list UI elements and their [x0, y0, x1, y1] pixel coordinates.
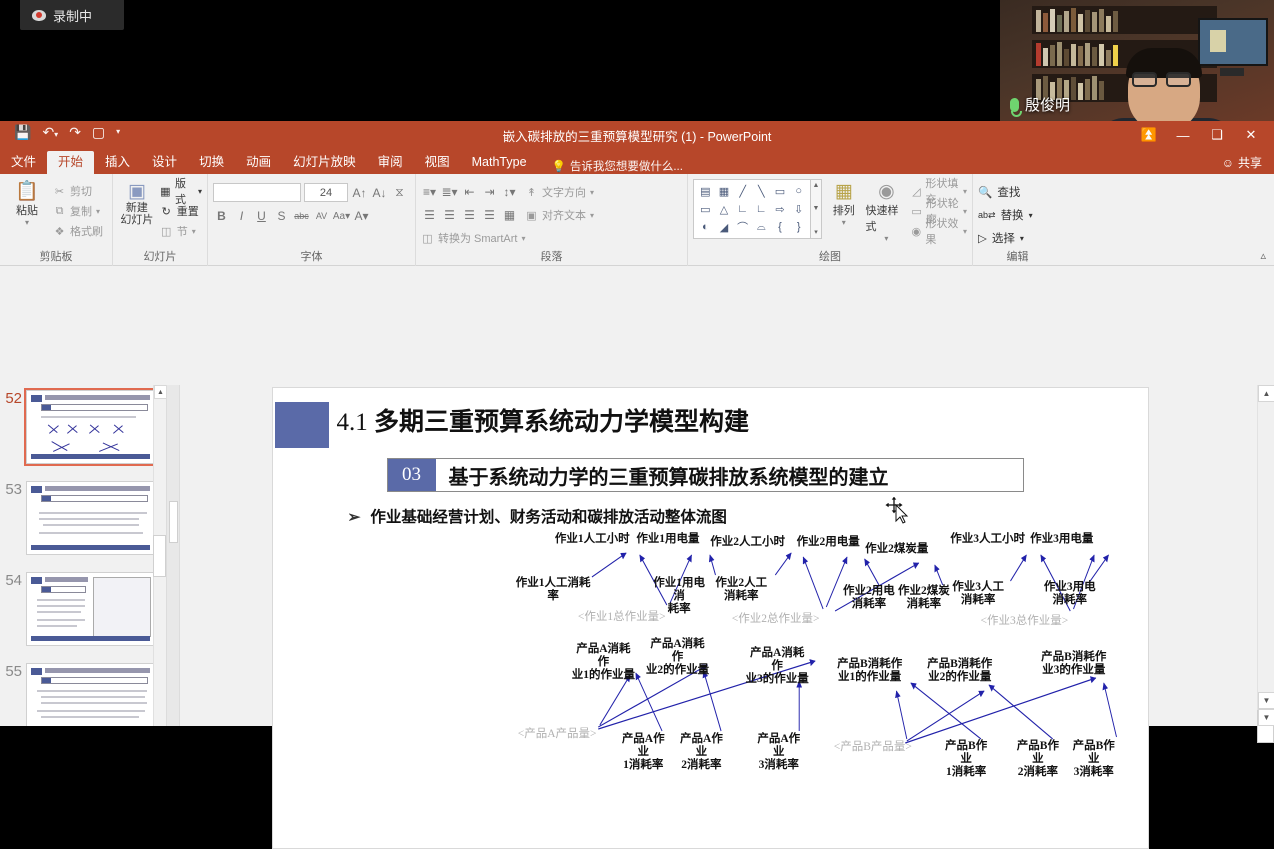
convert-to-smartart-button[interactable]: ◫ 转换为 SmartArt ▾: [421, 229, 525, 247]
title-accent-square: [275, 402, 329, 448]
quick-styles-button[interactable]: ◉ 快速样式 ▾: [865, 179, 907, 243]
quick-styles-icon: ◉: [878, 181, 895, 202]
section-header-box[interactable]: 03 基于系统动力学的三重预算碳排放系统模型的建立: [387, 458, 1024, 492]
paste-button[interactable]: 📋 粘贴 ▾: [5, 179, 49, 227]
collapse-ribbon-icon[interactable]: ▵: [1260, 249, 1266, 262]
strikethrough-button[interactable]: abc: [293, 207, 310, 225]
font-color-icon[interactable]: A▾: [353, 207, 370, 225]
restore-button[interactable]: ❑: [1200, 124, 1234, 146]
group-label-slides: 幻灯片: [113, 248, 207, 264]
scroll-down-icon[interactable]: ▼: [813, 205, 820, 212]
section-number: 03: [388, 459, 436, 491]
copy-icon: ⧉: [53, 205, 66, 218]
replace-label: 替换: [1001, 207, 1024, 223]
list-item[interactable]: 52: [0, 385, 166, 476]
diagram-node-r1[interactable]: 产品A作业 1消耗率: [617, 733, 670, 772]
move-cursor: [885, 496, 911, 524]
title-number: 4.1: [337, 409, 368, 436]
slide-number: 54: [2, 572, 26, 589]
new-slide-label: 新建 幻灯片: [120, 202, 153, 226]
shape-outline-icon: ▭: [911, 205, 921, 218]
text-direction-button[interactable]: ↟ 文字方向 ▾: [525, 183, 594, 201]
group-drawing: ▤ ▦ ╱ ╲ ▭ ○ ▭ △ ∟ ∟ ⇨ ⇩ ◐ ◢ ⌒: [687, 174, 972, 266]
text-direction-icon: ↟: [525, 186, 538, 199]
group-paragraph: ≡▾ ≣▾ ⇤ ⇥ ↕▾ ↟ 文字方向 ▾ ☰ ☰: [415, 174, 687, 266]
group-label-clipboard: 剪贴板: [0, 248, 112, 264]
increase-font-size-icon[interactable]: A↑: [351, 184, 368, 202]
smartart-icon: ◫: [421, 232, 434, 245]
slide-thumbnail-55[interactable]: [26, 663, 155, 726]
replace-button[interactable]: ab⇄ 替换 ▾: [978, 205, 1033, 225]
title-bar: 💾 ↶▾ ↷ ▢ ▾ 嵌入碳排放的三重预算模型研究 (1) - PowerPoi…: [0, 121, 1274, 149]
copy-label: 复制: [70, 203, 92, 219]
shapes-gallery[interactable]: ▤ ▦ ╱ ╲ ▭ ○ ▭ △ ∟ ∟ ⇨ ⇩ ◐ ◢ ⌒: [693, 179, 811, 239]
group-font: 24 A↑ A↓ ⧖ B I U S abc AV Aa▾ A▾: [207, 174, 415, 266]
pane-splitter[interactable]: [166, 385, 180, 726]
person-icon: ☺: [1222, 156, 1234, 170]
slide-thumbnail-52[interactable]: [26, 390, 155, 464]
shape-curve-icon[interactable]: ⌓: [752, 218, 771, 236]
font-name-input[interactable]: [213, 183, 301, 202]
share-button[interactable]: ☺ 共享: [1222, 154, 1262, 171]
list-item[interactable]: 55: [0, 658, 166, 726]
thumbnail-scroll-up-icon[interactable]: ▲: [154, 385, 166, 399]
bold-button[interactable]: B: [213, 207, 230, 225]
shape-textbox-icon[interactable]: ▤: [696, 182, 715, 200]
align-text-icon: ▣: [525, 209, 538, 222]
format-painter-button[interactable]: ❖ 格式刷: [53, 222, 103, 240]
shape-left-brace-icon[interactable]: {: [771, 218, 790, 236]
arrange-label: 排列: [833, 202, 855, 218]
shape-down-arrow-icon[interactable]: ⇩: [789, 200, 808, 218]
diagram-node-r2[interactable]: 产品A作业 2消耗率: [675, 733, 728, 772]
align-left-icon[interactable]: ☰: [421, 206, 438, 224]
lightbulb-icon: 💡: [552, 159, 566, 173]
screen-share-top-band: 录制中: [0, 0, 1274, 122]
window-title: 嵌入碳排放的三重预算模型研究 (1) - PowerPoint: [0, 126, 1274, 145]
diagram-node-n12[interactable]: 作业2煤炭 消耗率: [898, 585, 951, 611]
tab-home[interactable]: 开始: [47, 151, 94, 174]
tab-mathtype[interactable]: MathType: [461, 151, 538, 174]
participant-name: 殷俊明: [1025, 94, 1070, 115]
diagram-node-n8[interactable]: 作业1人工消耗率: [511, 577, 596, 603]
diagram-node-ga[interactable]: <产品A产品量>: [515, 728, 599, 741]
bullets-icon[interactable]: ≡▾: [421, 183, 438, 201]
cut-button[interactable]: ✂ 剪切: [53, 182, 103, 200]
text-shadow-button[interactable]: S: [273, 207, 290, 225]
slide-number: 55: [2, 663, 26, 680]
workspace: 52: [0, 385, 1274, 726]
decrease-font-size-icon[interactable]: A↓: [371, 184, 388, 202]
recording-label: 录制中: [53, 6, 92, 25]
shape-triangle-icon[interactable]: △: [715, 200, 734, 218]
monitor-stand: [1220, 68, 1244, 76]
layout-button[interactable]: ▦ 版式 ▾: [160, 182, 202, 200]
clear-formatting-icon[interactable]: ⧖: [391, 184, 408, 202]
diagram-node-p4[interactable]: 产品B消耗作 业1的作业量: [837, 658, 902, 684]
diagram-node-p2[interactable]: 产品A消耗作 业2的作业量: [645, 638, 710, 677]
slide-number: 52: [2, 390, 26, 407]
diagram-node-n11[interactable]: 作业2用电 消耗率: [843, 585, 896, 611]
thumbnail-scrollbar-thumb[interactable]: [153, 535, 166, 577]
shape-oval-icon[interactable]: ○: [789, 182, 808, 200]
diagram-node-p5[interactable]: 产品B消耗作 业2的作业量: [927, 658, 992, 684]
tab-file[interactable]: 文件: [0, 151, 47, 174]
webcam-video-tile[interactable]: 殷俊明: [1000, 0, 1274, 121]
diagram-node-r3[interactable]: 产品A作业 3消耗率: [752, 733, 805, 772]
reset-label: 重置: [177, 203, 199, 219]
diagram-node-n2[interactable]: 作业1用电量: [633, 533, 703, 546]
title-text: 多期三重预算系统动力学模型构建: [374, 409, 749, 436]
powerpoint-window: 💾 ↶▾ ↷ ▢ ▾ 嵌入碳排放的三重预算模型研究 (1) - PowerPoi…: [0, 121, 1274, 726]
change-case-icon[interactable]: Aa▾: [333, 207, 350, 225]
chevron-down-icon[interactable]: ▾: [25, 218, 29, 227]
bullet-text: 作业基础经营计划、财务活动和碳排放活动整体流图: [370, 509, 727, 526]
slide-area-scrollbar[interactable]: ▲ ▼ ▼: [1257, 385, 1274, 726]
diagram-node-p3[interactable]: 产品A消耗作 业3的作业量: [744, 647, 809, 686]
reset-icon: ↻: [160, 205, 173, 218]
shape-effects-button[interactable]: ◉ 形状效果 ▾: [911, 222, 967, 240]
reset-button[interactable]: ↻ 重置: [160, 202, 202, 220]
format-painter-label: 格式刷: [70, 223, 103, 239]
justify-icon[interactable]: ☰: [481, 206, 498, 224]
clipboard-icon: 📋: [15, 181, 39, 202]
microphone-icon: [1010, 98, 1019, 112]
tab-slideshow[interactable]: 幻灯片放映: [282, 151, 367, 174]
smartart-label: 转换为 SmartArt: [438, 230, 517, 246]
diagram-node-gb[interactable]: <产品B产品量>: [831, 741, 915, 754]
new-slide-icon: ▣: [128, 181, 146, 202]
shape-rounded-rect-icon[interactable]: ▭: [696, 200, 715, 218]
books: [1036, 42, 1118, 66]
shape-elbow-arrow-icon[interactable]: ∟: [752, 200, 771, 218]
window-controls: ⏫ — ❑ ✕: [1132, 124, 1268, 146]
character-spacing-icon[interactable]: AV: [313, 207, 330, 225]
shape-right-brace-icon[interactable]: }: [789, 218, 808, 236]
scissors-icon: ✂: [53, 185, 66, 198]
paste-label: 粘贴: [16, 202, 38, 218]
find-button[interactable]: 🔍 查找: [978, 182, 1020, 202]
numbering-icon[interactable]: ≣▾: [441, 183, 458, 201]
minimize-button[interactable]: —: [1166, 124, 1200, 146]
slide-thumbnail-pane[interactable]: 52: [0, 385, 166, 726]
shapes-gallery-scroll[interactable]: ▲ ▼ ▾: [811, 179, 822, 239]
shape-vertical-textbox-icon[interactable]: ▦: [715, 182, 734, 200]
increase-indent-icon[interactable]: ⇥: [481, 183, 498, 201]
diagram-node-r5[interactable]: 产品B作业 2消耗率: [1012, 740, 1065, 779]
cut-label: 剪切: [70, 183, 92, 199]
page-title[interactable]: 4.1 多期三重预算系统动力学模型构建: [337, 402, 750, 438]
tab-design[interactable]: 设计: [141, 151, 188, 174]
group-label-paragraph: 段落: [416, 248, 687, 264]
line-spacing-icon[interactable]: ↕▾: [501, 183, 518, 201]
copy-button[interactable]: ⧉ 复制 ▾: [53, 202, 103, 220]
group-label-drawing: 绘图: [688, 248, 972, 264]
shape-elbow-connector-icon[interactable]: ∟: [733, 200, 752, 218]
ribbon-tab-bar: 文件 开始 插入 设计 切换 动画 幻灯片放映 审阅 视图 MathType 💡…: [0, 149, 1274, 174]
format-painter-icon: ❖: [53, 225, 66, 238]
diagram-node-n5[interactable]: 作业2煤炭量: [862, 543, 932, 556]
align-right-icon[interactable]: ☰: [461, 206, 478, 224]
font-size-input[interactable]: 24: [304, 183, 348, 202]
align-text-button[interactable]: ▣ 对齐文本 ▾: [525, 206, 594, 224]
align-text-label: 对齐文本: [542, 207, 586, 223]
tab-animations[interactable]: 动画: [235, 151, 282, 174]
section-icon: ◫: [160, 225, 173, 238]
shape-pie-icon[interactable]: ◐: [696, 218, 715, 236]
shape-line-icon[interactable]: ╱: [733, 182, 752, 200]
eyeglasses-right: [1166, 72, 1191, 87]
shapes-gallery-wrap: ▤ ▦ ╱ ╲ ▭ ○ ▭ △ ∟ ∟ ⇨ ⇩ ◐ ◢ ⌒: [693, 179, 822, 239]
causal-loop-diagram[interactable]: 作业1人工小时作业1用电量作业2人工小时作业2用电量作业2煤炭量作业3人工小时作…: [273, 533, 1150, 793]
list-item[interactable]: 53: [0, 476, 166, 567]
align-center-icon[interactable]: ☰: [441, 206, 458, 224]
diagram-node-n14[interactable]: 作业3用电 消耗率: [1043, 581, 1096, 607]
diagram-node-n10[interactable]: 作业2人工 消耗率: [715, 577, 768, 603]
slide-canvas-area: 4.1 多期三重预算系统动力学模型构建 03 基于系统动力学的三重预算碳排放系统…: [180, 385, 1240, 726]
arrange-button[interactable]: ▦ 排列 ▾: [826, 179, 861, 227]
tab-insert[interactable]: 插入: [94, 151, 141, 174]
eyeglasses-left: [1132, 72, 1157, 87]
diagram-node-g1[interactable]: <作业1总作业量>: [575, 611, 669, 624]
tell-me-label: 告诉我您想要做什么...: [570, 158, 683, 174]
columns-icon[interactable]: ▦: [501, 206, 518, 224]
shape-arc-icon[interactable]: ⌒: [733, 218, 752, 236]
shapes-more-icon[interactable]: ▾: [814, 228, 818, 236]
current-slide[interactable]: 4.1 多期三重预算系统动力学模型构建 03 基于系统动力学的三重预算碳排放系统…: [272, 387, 1149, 849]
tab-review[interactable]: 审阅: [367, 151, 414, 174]
ribbon-display-options-button[interactable]: ⏫: [1132, 124, 1166, 146]
shape-effects-icon: ◉: [911, 225, 921, 238]
group-clipboard: 📋 粘贴 ▾ ✂ 剪切 ⧉ 复制 ▾ ❖ 格: [0, 174, 112, 266]
group-slides: ▣ 新建 幻灯片 ▦ 版式 ▾ ↻ 重置 ◫ 节: [112, 174, 207, 266]
new-slide-button[interactable]: ▣ 新建 幻灯片: [118, 179, 156, 226]
cloud-record-icon: [32, 10, 46, 21]
tab-transitions[interactable]: 切换: [188, 151, 235, 174]
group-editing: 🔍 查找 ab⇄ 替换 ▾ ▷ 选择 ▾ 编辑: [972, 174, 1062, 266]
shape-rectangle-icon[interactable]: ▭: [771, 182, 790, 200]
diagram-node-g3[interactable]: <作业3总作业量>: [977, 615, 1071, 628]
share-label: 共享: [1238, 154, 1262, 171]
thumbnail-pane-scrollbar[interactable]: ▲: [153, 385, 166, 726]
recording-indicator[interactable]: 录制中: [20, 0, 124, 30]
italic-button[interactable]: I: [233, 207, 250, 225]
participant-name-badge: 殷俊明: [1010, 94, 1070, 115]
bullet-marker-icon: ➢: [348, 509, 361, 526]
find-label: 查找: [997, 184, 1020, 200]
diagram-node-n7[interactable]: 作业3用电量: [1027, 533, 1097, 546]
diagram-node-p1[interactable]: 产品A消耗作 业1的作业量: [571, 643, 636, 682]
scroll-up-icon[interactable]: ▲: [813, 182, 820, 189]
section-title: 基于系统动力学的三重预算碳排放系统模型的建立: [436, 461, 889, 490]
scroll-up-button[interactable]: ▲: [1258, 385, 1274, 402]
select-icon: ▷: [978, 231, 987, 245]
diagram-node-g2[interactable]: <作业2总作业量>: [729, 613, 823, 626]
shape-fill-icon: ◿: [911, 185, 921, 198]
diagram-node-n13[interactable]: 作业3人工 消耗率: [952, 581, 1005, 607]
group-label-font: 字体: [208, 248, 415, 264]
tab-view[interactable]: 视图: [414, 151, 461, 174]
decrease-indent-icon[interactable]: ⇤: [461, 183, 478, 201]
arrange-icon: ▦: [835, 181, 853, 202]
scroll-down-button[interactable]: ▼: [1258, 692, 1274, 709]
tell-me-box[interactable]: 💡 告诉我您想要做什么...: [552, 158, 683, 174]
search-icon: 🔍: [978, 185, 992, 199]
next-slide-button[interactable]: ▼: [1258, 709, 1274, 726]
section-label: 节: [177, 223, 188, 239]
select-label: 选择: [992, 230, 1015, 246]
shape-effects-label: 形状效果: [925, 215, 959, 247]
layout-icon: ▦: [160, 185, 171, 198]
section-button[interactable]: ◫ 节 ▾: [160, 222, 202, 240]
diagram-node-n6[interactable]: 作业3人工小时: [948, 533, 1028, 546]
diagram-node-n1[interactable]: 作业1人工小时: [552, 533, 632, 546]
list-item[interactable]: 54: [0, 567, 166, 658]
select-button[interactable]: ▷ 选择 ▾: [978, 228, 1024, 248]
shape-freeform-icon[interactable]: ◢: [715, 218, 734, 236]
bullet-line[interactable]: ➢ 作业基础经营计划、财务活动和碳排放活动整体流图: [348, 505, 727, 527]
diagram-node-r4[interactable]: 产品B作业 1消耗率: [940, 740, 993, 779]
close-button[interactable]: ✕: [1234, 124, 1268, 146]
slide-thumbnail-54[interactable]: [26, 572, 155, 646]
slide-number: 53: [2, 481, 26, 498]
diagram-node-n4[interactable]: 作业2用电量: [793, 536, 863, 549]
diagram-node-r6[interactable]: 产品B作业 3消耗率: [1067, 740, 1120, 779]
shape-right-arrow-icon[interactable]: ⇨: [771, 200, 790, 218]
diagram-node-n3[interactable]: 作业2人工小时: [708, 536, 788, 549]
background-monitor: [1198, 18, 1268, 66]
group-label-editing: 编辑: [973, 248, 1062, 264]
slide-thumbnail-53[interactable]: [26, 481, 155, 555]
ribbon: 📋 粘贴 ▾ ✂ 剪切 ⧉ 复制 ▾ ❖ 格: [0, 174, 1274, 266]
replace-icon: ab⇄: [978, 210, 996, 221]
shape-line-arrow-icon[interactable]: ╲: [752, 182, 771, 200]
quick-styles-label: 快速样式: [865, 202, 907, 234]
books: [1036, 8, 1118, 32]
splitter-grip[interactable]: [169, 501, 178, 543]
diagram-node-p6[interactable]: 产品B消耗作 业3的作业量: [1041, 651, 1106, 677]
underline-button[interactable]: U: [253, 207, 270, 225]
text-direction-label: 文字方向: [542, 184, 586, 200]
